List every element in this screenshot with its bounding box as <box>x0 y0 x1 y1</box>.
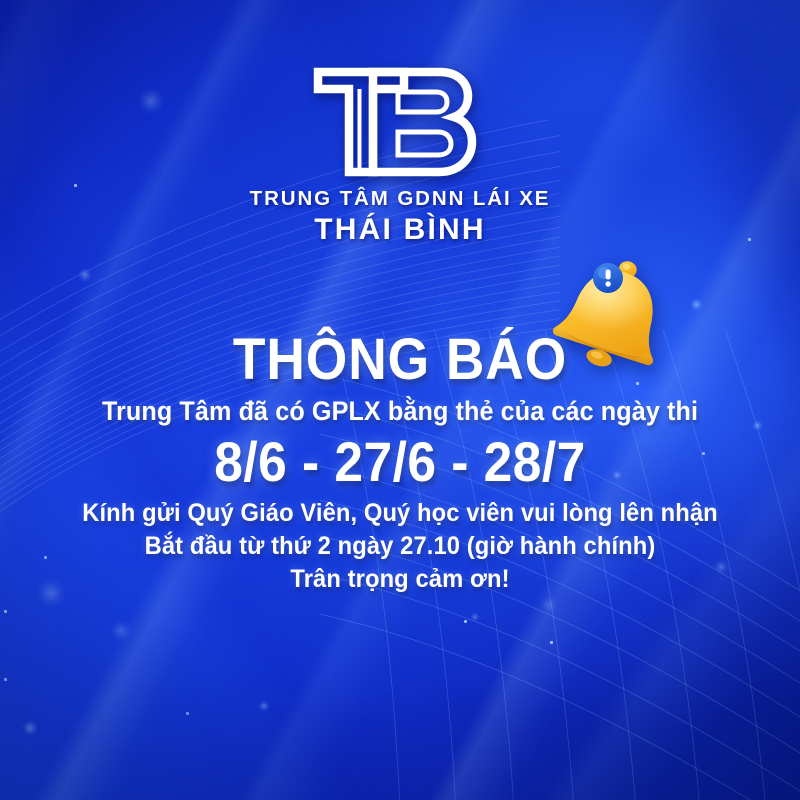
bokeh-dot <box>690 298 703 311</box>
bokeh-dot <box>470 612 480 622</box>
bokeh-dot <box>540 596 558 614</box>
announcement-body-line-3: Trân trọng cảm ơn! <box>20 565 780 594</box>
logo-tagline-line2: THÁI BÌNH <box>0 213 800 247</box>
bokeh-dot <box>22 720 38 736</box>
announcement-text-block: THÔNG BÁO Trung Tâm đã có GPLX bằng thẻ … <box>0 330 800 594</box>
sparkle-dot <box>550 641 553 644</box>
announcement-subline: Trung Tâm đã có GPLX bằng thẻ của các ng… <box>20 396 780 427</box>
announcement-dates: 8/6 - 27/6 - 28/7 <box>32 429 768 494</box>
announcement-body-line-1: Kính gửi Quý Giáo Viên, Quý học viên vui… <box>20 499 780 528</box>
brand-logo: TRUNG TÂM GDNN LÁI XE THÁI BÌNH <box>0 62 800 247</box>
tb-monogram-icon <box>312 62 488 178</box>
sparkle-dot <box>4 678 7 681</box>
sparkle-dot <box>464 620 467 623</box>
bokeh-dot <box>78 268 92 282</box>
sparkle-dot <box>4 610 7 613</box>
bokeh-dot <box>258 700 270 712</box>
exclamation-badge-icon <box>593 263 623 293</box>
announcement-headline: THÔNG BÁO <box>32 330 768 389</box>
sparkle-dot <box>186 712 189 715</box>
announcement-poster: TRUNG TÂM GDNN LÁI XE THÁI BÌNH <box>0 0 800 800</box>
bokeh-dot <box>110 620 132 642</box>
logo-tagline-line1: TRUNG TÂM GDNN LÁI XE <box>0 187 800 211</box>
announcement-body-line-2: Bắt đầu từ thứ 2 ngày 27.10 (giờ hành ch… <box>20 532 780 561</box>
